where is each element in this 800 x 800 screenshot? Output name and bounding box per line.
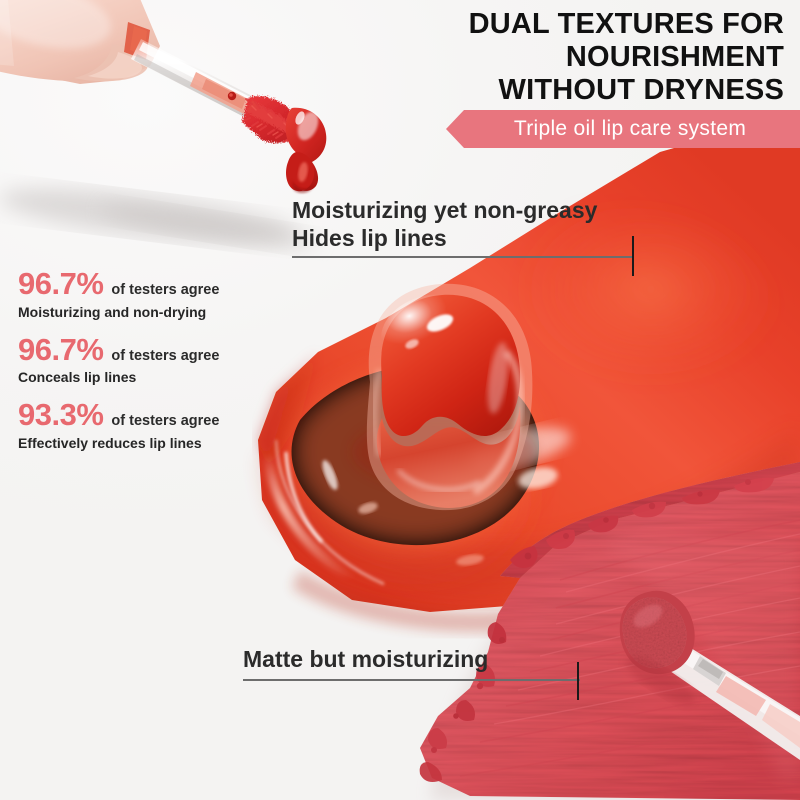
callout-top-line-1: Moisturizing yet non-greasy xyxy=(292,196,597,224)
tagline-banner: Triple oil lip care system xyxy=(446,110,800,148)
headline-line-1: DUAL TEXTURES FOR xyxy=(364,8,784,41)
tagline-text: Triple oil lip care system xyxy=(500,117,746,141)
stat-agree-label: of testers agree xyxy=(111,282,219,298)
stat-description: Conceals lip lines xyxy=(18,369,280,385)
stat-item: 96.7% of testers agree Moisturizing and … xyxy=(18,268,280,320)
stat-percent: 96.7% xyxy=(18,334,103,367)
stat-percent: 93.3% xyxy=(18,399,103,432)
headline-line-3: WITHOUT DRYNESS xyxy=(364,74,784,107)
stat-agree-label: of testers agree xyxy=(111,413,219,429)
headline: DUAL TEXTURES FOR NOURISHMENT WITHOUT DR… xyxy=(364,8,784,107)
callout-bottom-tick xyxy=(577,662,579,700)
callout-top-line-2: Hides lip lines xyxy=(292,224,597,252)
callout-top: Moisturizing yet non-greasy Hides lip li… xyxy=(292,196,597,252)
callout-bottom-line-1: Matte but moisturizing xyxy=(243,645,488,673)
stat-percent: 96.7% xyxy=(18,268,103,301)
stat-description: Effectively reduces lip lines xyxy=(18,435,280,451)
headline-line-2: NOURISHMENT xyxy=(364,41,784,74)
callout-bottom-rule xyxy=(243,679,580,681)
callout-top-tick xyxy=(632,236,634,276)
statistics-list: 96.7% of testers agree Moisturizing and … xyxy=(18,268,280,465)
product-marketing-image: DUAL TEXTURES FOR NOURISHMENT WITHOUT DR… xyxy=(0,0,800,800)
stat-item: 96.7% of testers agree Conceals lip line… xyxy=(18,334,280,386)
stat-item: 93.3% of testers agree Effectively reduc… xyxy=(18,399,280,451)
callout-bottom: Matte but moisturizing xyxy=(243,645,488,673)
stat-agree-label: of testers agree xyxy=(111,348,219,364)
stat-description: Moisturizing and non-drying xyxy=(18,304,280,320)
callout-top-rule xyxy=(292,256,634,258)
